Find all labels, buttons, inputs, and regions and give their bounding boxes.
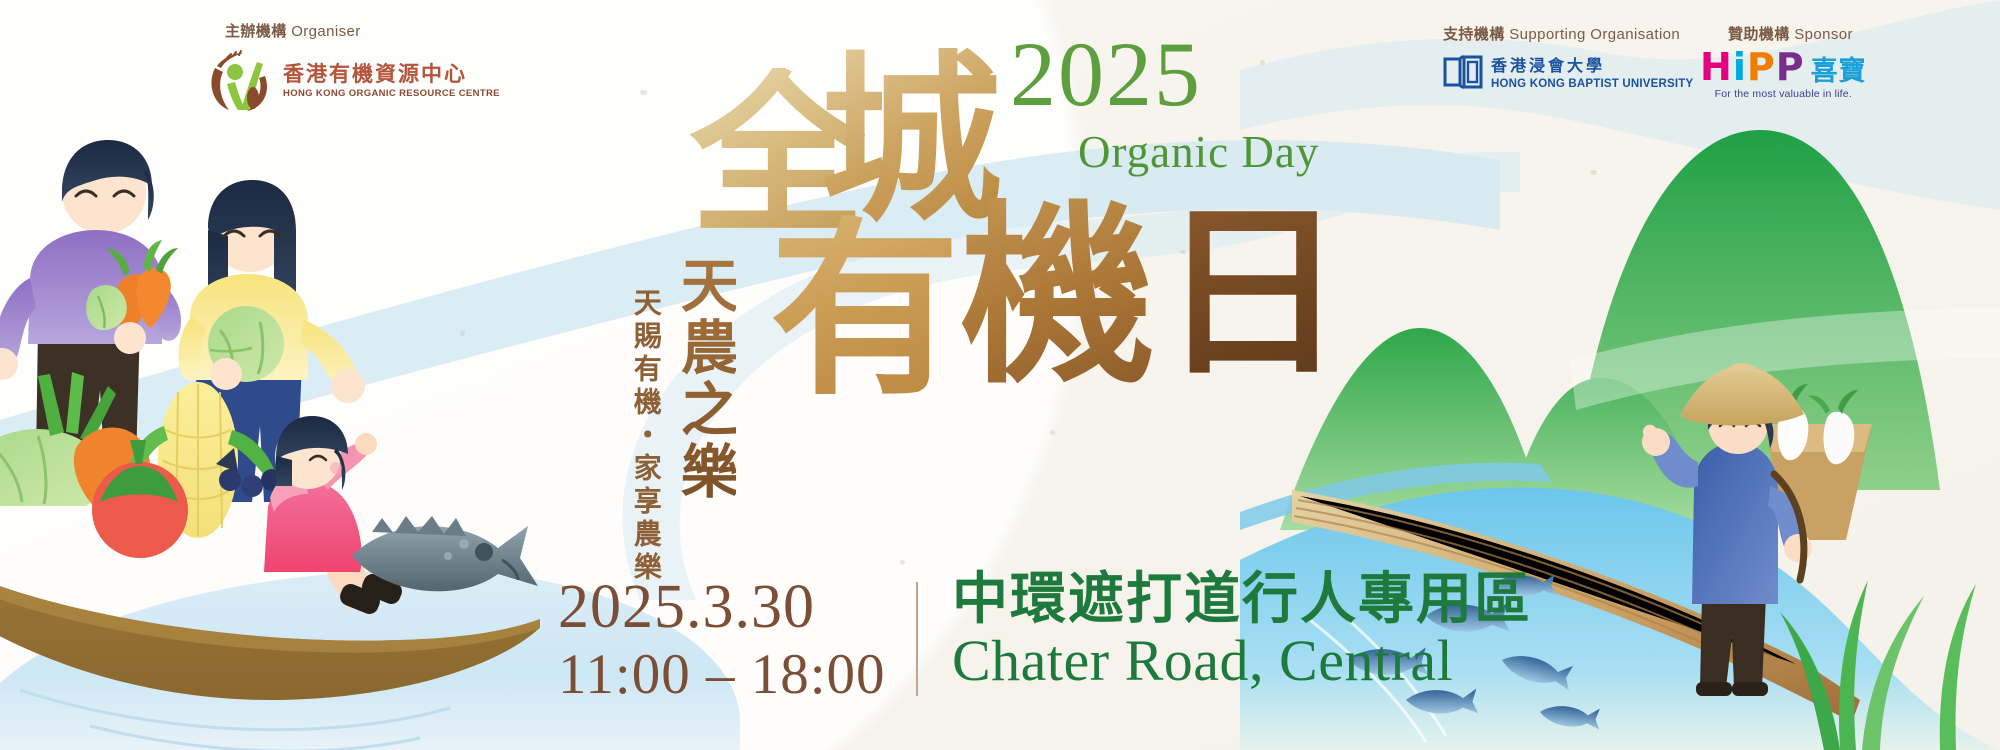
title-cn-char-ji: 機	[960, 198, 1155, 393]
organiser-credit-cn: 主辦機構	[225, 23, 287, 40]
hipp-name-cn: 喜寶	[1811, 58, 1867, 85]
father-figure	[0, 140, 181, 460]
orc-logo-text: 香港有機資源中心 HONG KONG ORGANIC RESOURCE CENT…	[283, 64, 500, 99]
supporting-credit-cn: 支持機構	[1443, 26, 1505, 43]
event-venue: 中環遮打道行人專用區 Chater Road, Central	[952, 570, 1532, 692]
orc-logo[interactable]: 香港有機資源中心 HONG KONG ORGANIC RESOURCE CENT…	[205, 50, 500, 112]
supporting-credit-en: Supporting Organisation	[1509, 26, 1680, 43]
venue-name-en: Chater Road, Central	[952, 631, 1532, 692]
detail-divider	[916, 582, 918, 696]
title-english: Organic Day	[1078, 130, 1319, 175]
sponsor-credit-cn: 贊助機構	[1728, 26, 1790, 43]
sponsor-credit-en: Sponsor	[1794, 26, 1853, 43]
hkbu-name-en: HONG KONG BAPTIST UNIVERSITY	[1491, 78, 1693, 90]
title-vertical-large: 天農之樂	[672, 255, 736, 503]
hkbu-book-icon	[1443, 53, 1483, 89]
child-figure	[264, 416, 405, 617]
event-date: 2025.3.30	[558, 576, 886, 638]
venue-name-cn: 中環遮打道行人專用區	[952, 570, 1532, 629]
hipp-tagline: For the most valuable in life.	[1700, 88, 1867, 100]
hipp-wordmark: H i P P 喜寶	[1700, 50, 1867, 85]
orc-name-cn: 香港有機資源中心	[283, 64, 500, 85]
hipp-letter-i: i	[1733, 50, 1746, 85]
orc-logo-icon	[205, 50, 275, 112]
hkbu-logo[interactable]: 香港浸會大學 HONG KONG BAPTIST UNIVERSITY	[1443, 52, 1693, 90]
title-cn-char-you: 有	[770, 215, 960, 405]
hkbu-logo-text: 香港浸會大學 HONG KONG BAPTIST UNIVERSITY	[1491, 52, 1693, 90]
hipp-letter-h: H	[1700, 50, 1732, 85]
orc-name-en: HONG KONG ORGANIC RESOURCE CENTRE	[283, 89, 500, 99]
hipp-letter-p2: P	[1776, 50, 1804, 85]
event-datetime: 2025.3.30 11:00 – 18:00	[558, 576, 886, 706]
title-cn-char-ri: 日	[1160, 200, 1345, 385]
organiser-credit: 主辦機構 Organiser	[225, 20, 361, 41]
hipp-logo[interactable]: H i P P 喜寶 For the most valuable in life…	[1700, 50, 1867, 100]
organiser-credit-en: Organiser	[291, 23, 360, 40]
left-illustration	[0, 130, 540, 750]
title-year: 2025	[1010, 28, 1202, 120]
title-vertical-small: 天賜有機・家享農樂	[630, 288, 661, 585]
event-time: 11:00 – 18:00	[558, 644, 886, 706]
organic-day-banner: 主辦機構 Organiser 香港有機資源中心 HONG KONG ORGANI…	[0, 0, 2000, 750]
hipp-letter-p1: P	[1747, 50, 1775, 85]
sponsor-credit: 贊助機構 Sponsor	[1728, 23, 1853, 44]
hkbu-name-cn: 香港浸會大學	[1491, 52, 1693, 76]
supporting-credit: 支持機構 Supporting Organisation	[1443, 23, 1680, 44]
